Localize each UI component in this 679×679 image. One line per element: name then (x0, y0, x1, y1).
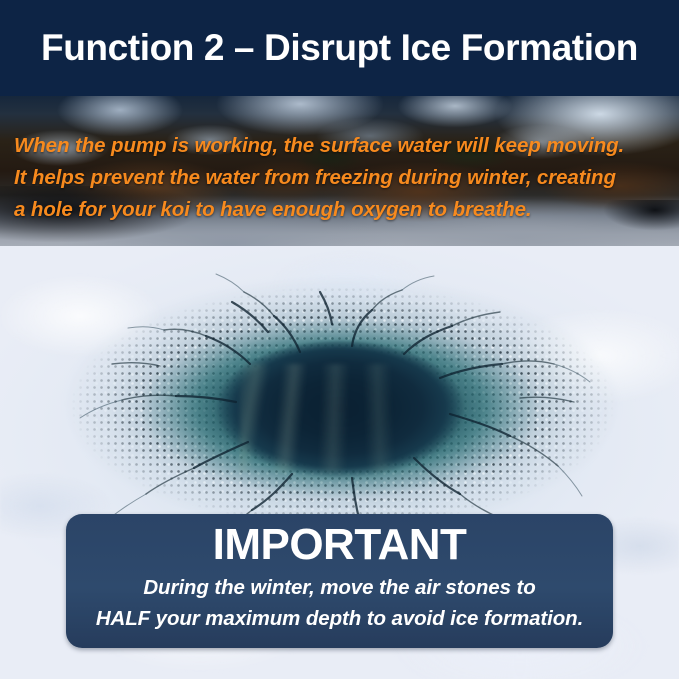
important-body: During the winter, move the air stones t… (96, 572, 583, 634)
caption-line-2: It helps prevent the water from freezing… (14, 162, 669, 194)
caption-line-1: When the pump is working, the surface wa… (14, 130, 669, 162)
important-callout: IMPORTANT During the winter, move the ai… (66, 514, 613, 648)
caption-text: When the pump is working, the surface wa… (14, 130, 669, 226)
important-line-1: During the winter, move the air stones t… (96, 572, 583, 603)
important-line-2: HALF your maximum depth to avoid ice for… (96, 603, 583, 634)
important-heading: IMPORTANT (213, 522, 467, 568)
caption-line-3: a hole for your koi to have enough oxyge… (14, 194, 669, 226)
page-title: Function 2 – Disrupt Ice Formation (41, 29, 638, 68)
header-banner: Function 2 – Disrupt Ice Formation (0, 0, 679, 96)
infographic-poster: Function 2 – Disrupt Ice Formation When … (0, 0, 679, 679)
